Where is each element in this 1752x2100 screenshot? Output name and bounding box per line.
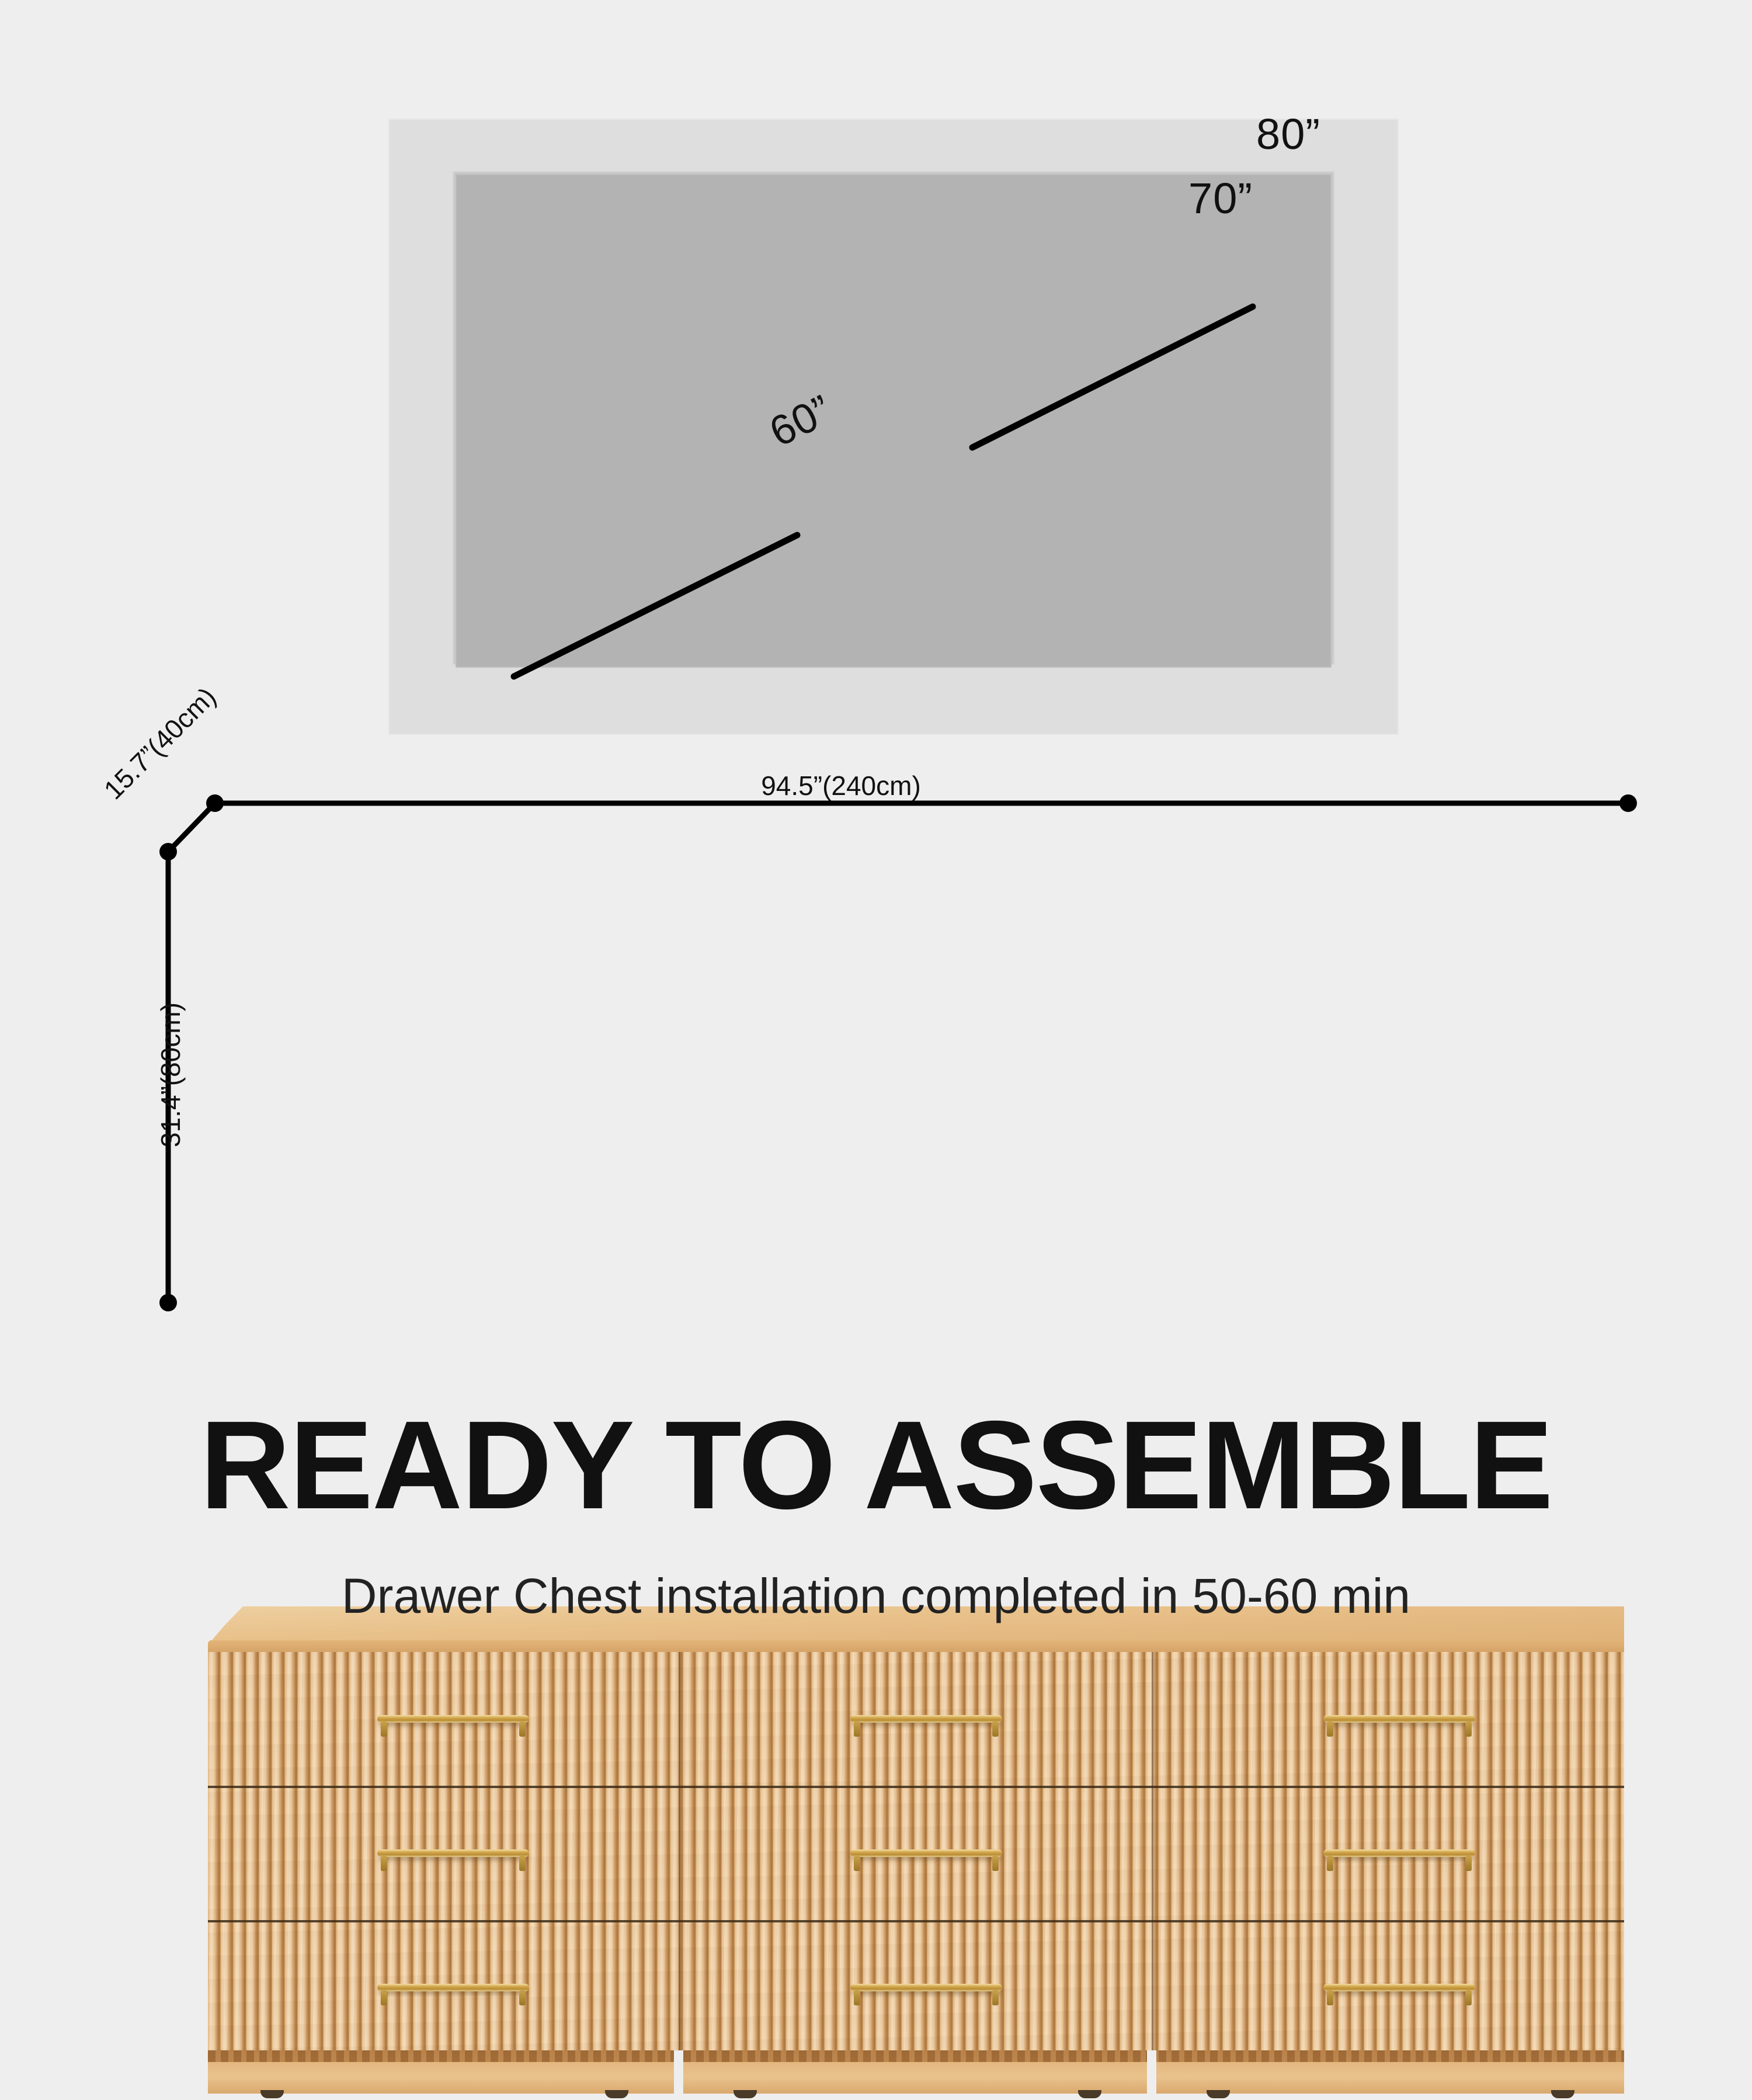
cabinet-foot-3 bbox=[734, 2090, 757, 2098]
plinth-gap-left bbox=[674, 2050, 683, 2094]
drawer-handle-r2c3[interactable] bbox=[1323, 1849, 1475, 1857]
drawer-handle-r1c1[interactable] bbox=[377, 1715, 529, 1723]
drawer-handle-r3c1[interactable] bbox=[377, 1984, 529, 1991]
drawer-seam-row1 bbox=[208, 1786, 1624, 1788]
cabinet-foot-6 bbox=[1551, 2090, 1574, 2098]
cabinet-foot-2 bbox=[605, 2090, 628, 2098]
drawer-handle-r3c3[interactable] bbox=[1323, 1984, 1475, 1991]
tv-label-70in: 70” bbox=[1188, 173, 1253, 223]
cabinet-foot-1 bbox=[260, 2090, 284, 2098]
dimension-label-width: 94.5”(240cm) bbox=[761, 770, 921, 801]
cabinet-plinth-base bbox=[208, 2050, 1624, 2094]
cabinet-drawer-fronts bbox=[208, 1652, 1624, 2055]
drawer-chest bbox=[208, 1606, 1624, 2100]
dresser-dimension-group bbox=[0, 777, 1752, 1408]
module-seam-right bbox=[1152, 1652, 1153, 2055]
drawer-handle-r2c2[interactable] bbox=[850, 1849, 1002, 1857]
tv-label-80in: 80” bbox=[1256, 109, 1320, 159]
drawer-handle-r1c3[interactable] bbox=[1323, 1715, 1475, 1723]
cabinet-foot-5 bbox=[1207, 2090, 1230, 2098]
cabinet-top-edge bbox=[208, 1640, 1624, 1653]
drawer-handle-r2c1[interactable] bbox=[377, 1849, 529, 1857]
plinth-gap-right bbox=[1147, 2050, 1156, 2094]
drawer-handle-r1c2[interactable] bbox=[850, 1715, 1002, 1723]
cabinet-foot-4 bbox=[1078, 2090, 1101, 2098]
drawer-handle-r3c2[interactable] bbox=[850, 1984, 1002, 1991]
marketing-subheadline: Drawer Chest installation completed in 5… bbox=[0, 1571, 1752, 1620]
infographic-canvas: 80” 70” 60” bbox=[0, 0, 1752, 1752]
drawer-seam-row2 bbox=[208, 1920, 1624, 1922]
module-seam-left bbox=[679, 1652, 680, 2055]
dimension-label-height: 31.4”(80cm) bbox=[155, 1002, 186, 1147]
tv-size-diagram: 80” 70” 60” bbox=[388, 119, 1399, 735]
dimension-leader-lines bbox=[0, 777, 1752, 1408]
plinth-notch-detail bbox=[208, 2050, 1624, 2062]
marketing-headline: READY TO ASSEMBLE bbox=[0, 1402, 1752, 1528]
